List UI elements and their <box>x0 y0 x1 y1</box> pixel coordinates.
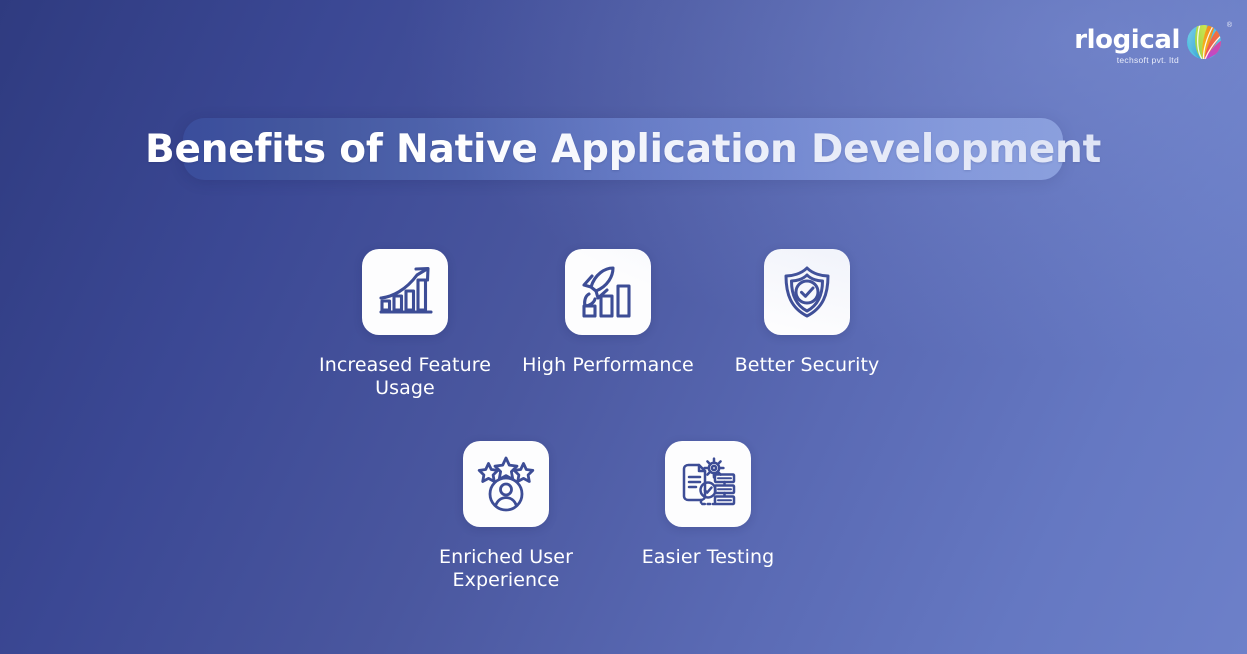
gear-document-testing-icon <box>679 456 737 512</box>
slide-canvas: rlogical techsoft pvt. ltd <box>0 0 1247 654</box>
benefits-row-bottom: Enriched User Experience <box>387 441 791 592</box>
rocket-bars-icon <box>579 265 637 319</box>
brand-name: rlogical <box>1074 27 1180 53</box>
benefit-item-high-performance[interactable]: High Performance <box>494 249 722 377</box>
benefit-icon-tile <box>565 249 651 335</box>
benefit-icon-tile <box>665 441 751 527</box>
benefit-icon-tile <box>463 441 549 527</box>
benefit-item-increased-feature-usage[interactable]: Increased Feature Usage <box>316 249 494 400</box>
benefit-item-better-security[interactable]: Better Security <box>722 249 892 377</box>
benefit-label: Easier Testing <box>642 546 775 569</box>
benefit-label: High Performance <box>522 354 694 377</box>
benefit-label: Increased Feature Usage <box>316 354 494 400</box>
benefits-row-top: Increased Feature Usage High Performan <box>316 249 892 400</box>
benefit-item-enriched-user-experience[interactable]: Enriched User Experience <box>387 441 625 592</box>
benefit-icon-tile <box>362 249 448 335</box>
brand-logo-text: rlogical techsoft pvt. ltd <box>1074 27 1180 65</box>
brand-tagline: techsoft pvt. ltd <box>1117 56 1179 65</box>
rlogical-petal-logo-icon: ® <box>1183 21 1225 63</box>
growth-chart-icon <box>376 265 434 319</box>
benefit-label: Better Security <box>735 354 880 377</box>
shield-check-icon <box>779 264 835 320</box>
benefit-icon-tile <box>764 249 850 335</box>
registered-trademark-icon: ® <box>1227 22 1232 29</box>
stars-user-rating-icon <box>477 456 535 512</box>
benefit-label: Enriched User Experience <box>387 546 625 592</box>
title-banner: Benefits of Native Application Developme… <box>183 118 1063 180</box>
benefit-item-easier-testing[interactable]: Easier Testing <box>625 441 791 569</box>
brand-logo[interactable]: rlogical techsoft pvt. ltd <box>1074 21 1225 71</box>
page-title: Benefits of Native Application Developme… <box>145 127 1101 172</box>
